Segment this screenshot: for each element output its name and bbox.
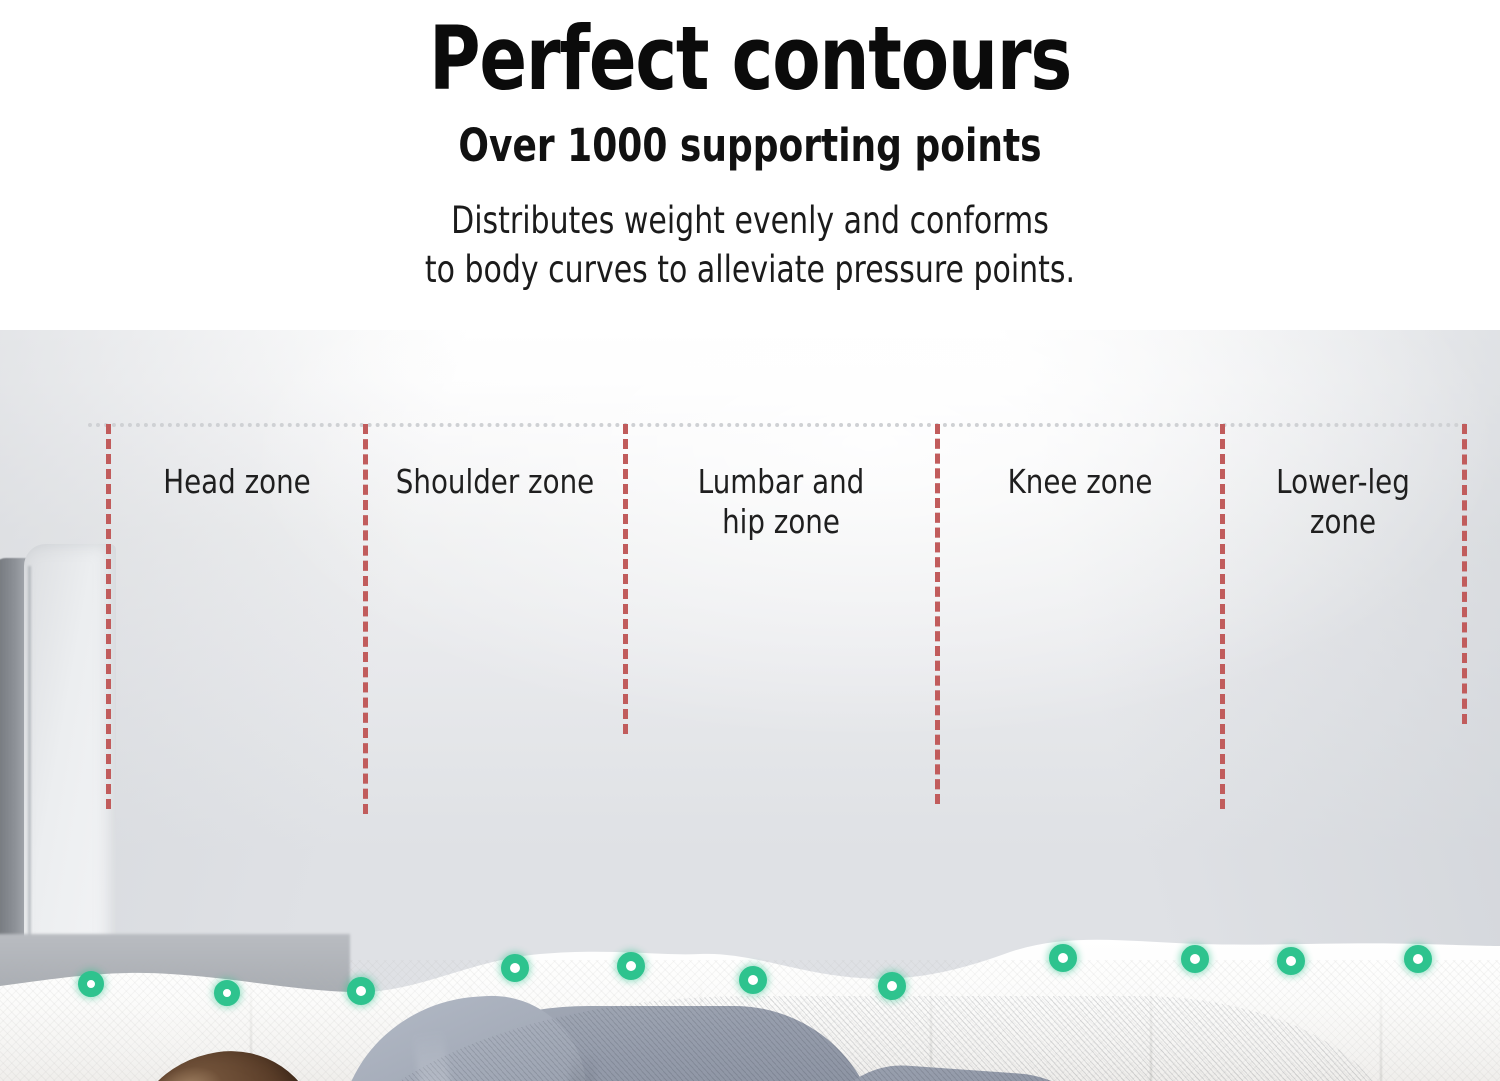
zone-label-shoulder: Shoulder zone — [369, 462, 621, 502]
page-title: Perfect contours — [150, 14, 1350, 104]
zone-label-lower-leg: Lower-leg zone — [1217, 462, 1469, 543]
support-point-marker — [347, 977, 375, 1005]
zone-label-head: Head zone — [111, 462, 363, 502]
support-point-marker — [878, 972, 906, 1000]
support-point-marker — [1049, 944, 1077, 972]
support-point-marker — [617, 952, 645, 980]
zone-divider-line — [935, 424, 940, 804]
support-point-marker — [78, 971, 104, 997]
header: Perfect contours Over 1000 supporting po… — [0, 0, 1500, 295]
mattress-seam — [1380, 978, 1382, 1081]
zone-divider-line — [363, 424, 368, 814]
page-subtitle: Over 1000 supporting points — [150, 122, 1350, 169]
support-point-marker — [739, 966, 767, 994]
description-line-2: to body curves to alleviate pressure poi… — [143, 246, 1358, 295]
zone-label-lumbar-hip: Lumbar and hip zone — [655, 462, 907, 543]
support-point-marker — [501, 954, 529, 982]
zone-label-knee: Knee zone — [954, 462, 1206, 502]
page-description: Distributes weight evenly and conforms t… — [143, 197, 1358, 295]
zone-divider-line — [623, 424, 628, 734]
support-point-marker — [1181, 945, 1209, 973]
support-point-marker — [1404, 945, 1432, 973]
support-point-marker — [1277, 947, 1305, 975]
product-feature-graphic: Perfect contours Over 1000 supporting po… — [0, 0, 1500, 1081]
top-guide-line — [88, 423, 1468, 427]
description-line-1: Distributes weight evenly and conforms — [143, 197, 1358, 246]
support-point-marker — [214, 980, 240, 1006]
